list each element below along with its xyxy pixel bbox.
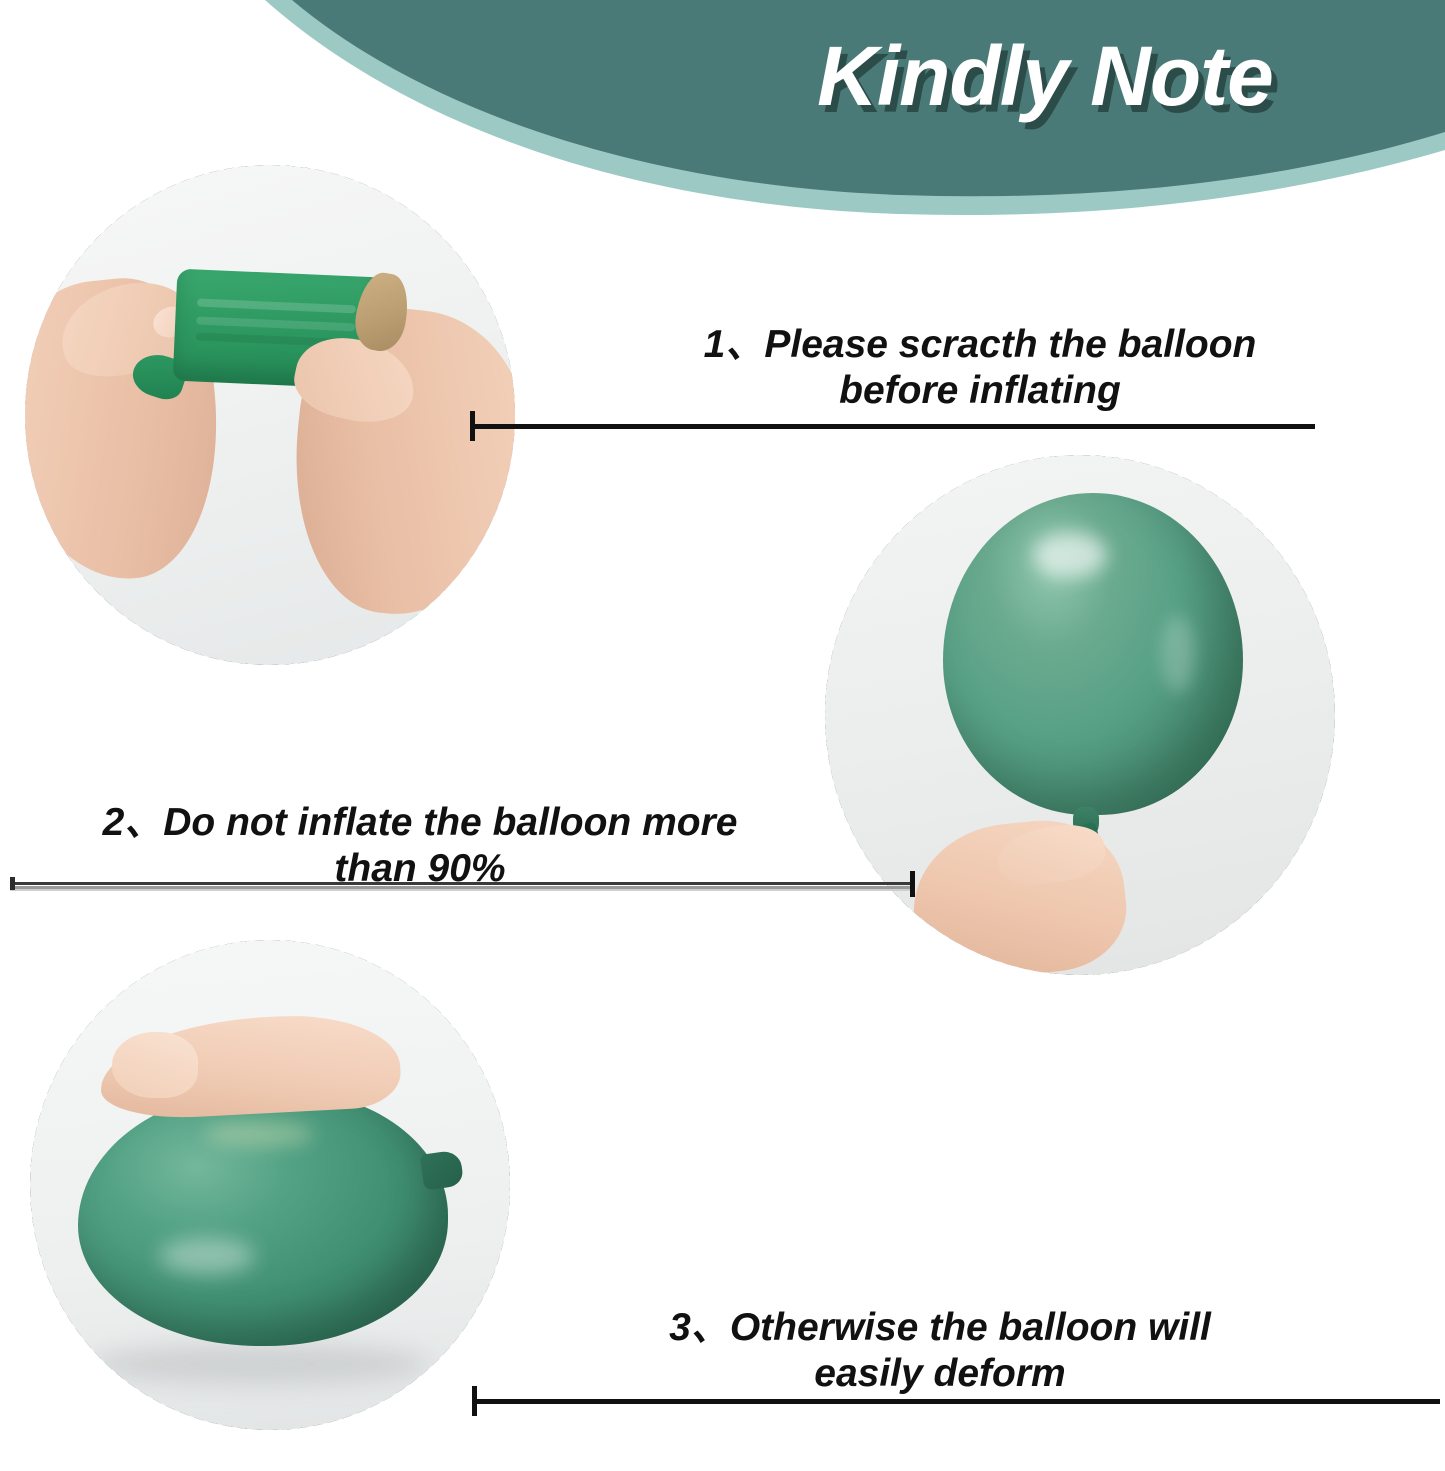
floor-shadow (90, 1344, 430, 1384)
step-2-number: 2、 (103, 801, 164, 844)
photo-2-clip (825, 455, 1335, 975)
connector-3-tick (472, 1386, 477, 1416)
deformed-balloon (78, 1090, 448, 1346)
photo-3-clip (30, 940, 510, 1430)
photo-step-2-inflated-balloon (825, 455, 1335, 975)
step-2-text: 2、Do not inflate the balloon more than 9… (55, 800, 785, 892)
connector-2-tick-right (910, 871, 915, 897)
step-1-text-line-1: Please scracth the balloon (764, 323, 1256, 366)
connector-1-tick (470, 411, 475, 441)
page-title: Kindly Note (745, 28, 1345, 125)
balloon-highlight (204, 1121, 314, 1147)
step-1-text-line-2: before inflating (640, 368, 1320, 414)
photo-step-1-stretch-balloon (25, 165, 515, 665)
photo-1-clip (25, 165, 515, 665)
connector-1-bar (470, 424, 1315, 429)
step-2-text-line-1: Do not inflate the balloon more (163, 801, 737, 844)
connector-3-bar (472, 1399, 1440, 1404)
pressing-hand-knuckle (112, 1032, 198, 1098)
step-1-number: 1、 (704, 323, 765, 366)
inflated-balloon (943, 493, 1243, 815)
step-2-text-line-2: than 90% (55, 846, 785, 892)
step-2-line-1: 2、Do not inflate the balloon more (55, 800, 785, 846)
step-3-text-line-2: easily deform (600, 1351, 1280, 1397)
connector-2-tick-left (10, 877, 15, 890)
step-1-text: 1、Please scracth the balloon before infl… (640, 322, 1320, 414)
step-3-text: 3、Otherwise the balloon will easily defo… (600, 1305, 1280, 1397)
step-3-line-1: 3、Otherwise the balloon will (600, 1305, 1280, 1351)
balloon-highlight (1161, 615, 1195, 693)
connector-line-step-3 (472, 1399, 1440, 1404)
photo-step-3-deformed-balloon (30, 940, 510, 1430)
step-1-line-1: 1、Please scracth the balloon (640, 322, 1320, 368)
connector-line-step-1 (470, 424, 1315, 429)
step-3-number: 3、 (669, 1306, 730, 1349)
step-3-text-line-1: Otherwise the balloon will (730, 1306, 1211, 1349)
